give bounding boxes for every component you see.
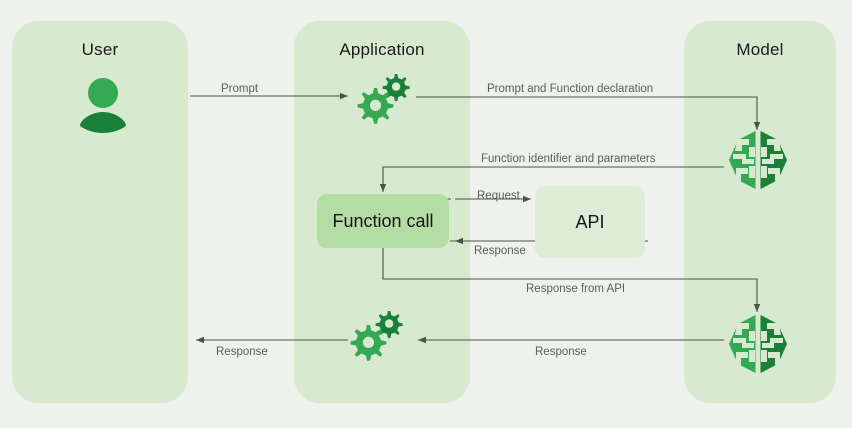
edge-label-identifier-and-params: Function identifier and parameters xyxy=(481,153,656,165)
gears-icon xyxy=(352,68,414,135)
node-function-call-label: Function call xyxy=(332,211,433,232)
gears-icon xyxy=(345,305,407,372)
node-api[interactable]: API xyxy=(535,186,645,258)
edge-prompt-and-declaration xyxy=(416,97,757,130)
node-function-call[interactable]: Function call xyxy=(317,194,449,248)
edge-label-response-user: Response xyxy=(216,346,268,358)
edge-label-response-model: Response xyxy=(535,346,587,358)
edge-label-prompt-and-declaration: Prompt and Function declaration xyxy=(487,83,653,95)
edge-label-response-api: Response xyxy=(474,245,526,257)
brain-icon xyxy=(724,126,792,199)
edge-label-prompt: Prompt xyxy=(221,83,258,95)
diagram-canvas: User Application Model xyxy=(0,0,852,428)
edge-label-response-from-api: Response from API xyxy=(526,283,625,295)
node-api-label: API xyxy=(575,212,604,233)
user-icon xyxy=(74,76,132,139)
edge-label-request: Request xyxy=(477,190,520,202)
brain-icon xyxy=(724,310,792,383)
